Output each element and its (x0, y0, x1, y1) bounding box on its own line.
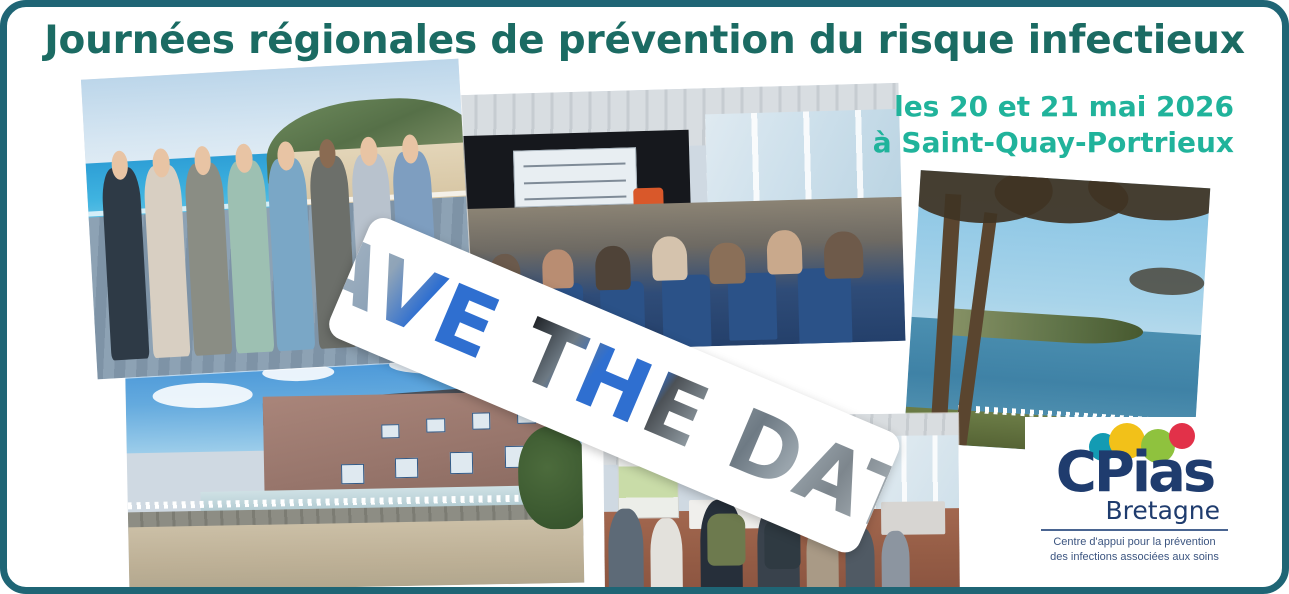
cpias-logo: CPias Bretagne Centre d'appui pour la pr… (1025, 417, 1240, 571)
photo-exhibition-hall (603, 413, 960, 587)
logo-tagline-line1: Centre d'appui pour la prévention (1033, 535, 1236, 550)
event-location: à Saint-Quay-Portrieux (873, 125, 1234, 161)
logo-wordmark: CPias (1033, 445, 1236, 501)
photo-auditorium (458, 83, 905, 353)
event-dates: les 20 et 21 mai 2026 (873, 89, 1234, 125)
logo-tagline-line2: des infections associées aux soins (1033, 550, 1236, 565)
page-title: Journées régionales de prévention du ris… (7, 21, 1282, 62)
photo-group-terrace (81, 59, 475, 380)
event-details: les 20 et 21 mai 2026 à Saint-Quay-Portr… (873, 89, 1234, 161)
logo-divider (1041, 529, 1228, 531)
photo-hotel-beach (125, 337, 585, 587)
logo-tagline: Centre d'appui pour la prévention des in… (1033, 535, 1236, 565)
poster-canvas: SAVE THE DATE Journées régionales de pré… (0, 0, 1289, 594)
